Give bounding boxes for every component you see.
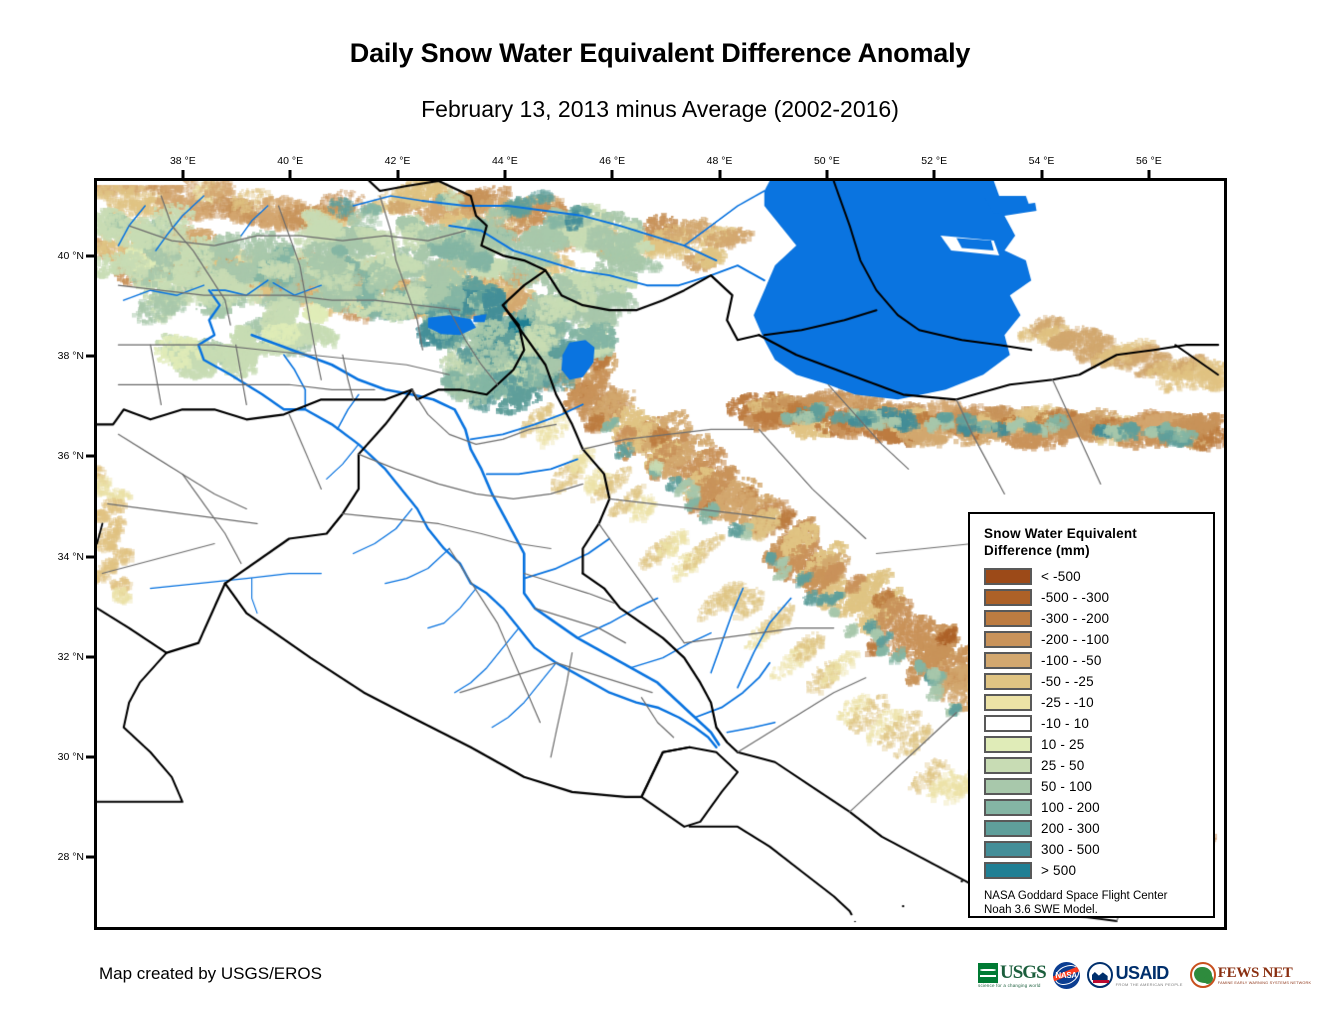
legend-row: -500 - -300 [984,587,1203,608]
legend-source-line1: NASA Goddard Space Flight Center [984,889,1203,903]
map-page: Daily Snow Water Equivalent Difference A… [0,0,1320,1020]
lon-tick-label: 46 °E [599,155,625,167]
legend-swatch [984,673,1032,690]
lon-tick-label: 38 °E [170,155,196,167]
legend-label: > 500 [1041,863,1076,878]
nasa-logo-text: NASA [1055,971,1076,980]
fewsnet-logo: FEWS NET FAMINE EARLY WARNING SYSTEMS NE… [1190,960,1311,990]
page-subtitle: February 13, 2013 minus Average (2002-20… [0,96,1320,123]
legend-label: -100 - -50 [1041,653,1102,668]
usaid-seal-icon [1087,962,1113,988]
legend-label: -200 - -100 [1041,632,1109,647]
legend-label: < -500 [1041,569,1081,584]
nasa-logo: NASA [1053,960,1080,990]
lat-tick-label: 30 °N [48,751,84,763]
legend-label: -50 - -25 [1041,674,1094,689]
lat-tick-label: 32 °N [48,651,84,663]
fewsnet-logo-text: FEWS NET [1218,966,1293,981]
fewsnet-logo-subtext: FAMINE EARLY WARNING SYSTEMS NETWORK [1218,981,1311,985]
legend-row: 10 - 25 [984,734,1203,755]
legend-swatch [984,778,1032,795]
legend-swatch [984,652,1032,669]
usaid-logo-text: USAID [1116,964,1169,982]
lon-tick-label: 48 °E [707,155,733,167]
lat-tick-label: 36 °N [48,450,84,462]
legend-row: -10 - 10 [984,713,1203,734]
legend-panel: Snow Water Equivalent Difference (mm) < … [968,512,1215,918]
legend-label: 300 - 500 [1041,842,1100,857]
legend-title: Snow Water Equivalent Difference (mm) [984,525,1203,559]
lon-tick-label: 44 °E [492,155,518,167]
legend-label: 50 - 100 [1041,779,1092,794]
usgs-logo-subtext: science for a changing world [978,983,1041,988]
legend-source-line2: Noah 3.6 SWE Model. [984,903,1203,917]
legend-swatch [984,799,1032,816]
legend-label: -25 - -10 [1041,695,1094,710]
legend-row: > 500 [984,860,1203,881]
legend-row: -25 - -10 [984,692,1203,713]
legend-row: < -500 [984,566,1203,587]
legend-row: -200 - -100 [984,629,1203,650]
legend-label: 100 - 200 [1041,800,1100,815]
legend-swatch [984,631,1032,648]
lat-tick-label: 28 °N [48,851,84,863]
logo-strip: USGS science for a changing world NASA U… [978,958,1311,992]
usaid-logo: USAID FROM THE AMERICAN PEOPLE [1087,960,1183,990]
lon-tick-label: 50 °E [814,155,840,167]
legend-swatch [984,757,1032,774]
map-credit: Map created by USGS/EROS [99,964,322,984]
nasa-meatball-icon: NASA [1053,962,1080,989]
legend-row: -300 - -200 [984,608,1203,629]
lon-tick-label: 56 °E [1136,155,1162,167]
legend-swatch [984,715,1032,732]
legend-row: 300 - 500 [984,839,1203,860]
legend-row: 50 - 100 [984,776,1203,797]
page-title: Daily Snow Water Equivalent Difference A… [0,38,1320,69]
usgs-wave-icon [978,963,998,983]
legend-row: 200 - 300 [984,818,1203,839]
legend-source: NASA Goddard Space Flight Center Noah 3.… [984,889,1203,917]
lon-tick-label: 52 °E [921,155,947,167]
legend-row: -50 - -25 [984,671,1203,692]
legend-title-line1: Snow Water Equivalent [984,525,1203,542]
usgs-logo-text: USGS [1000,963,1046,982]
usaid-logo-subtext: FROM THE AMERICAN PEOPLE [1116,982,1183,987]
legend-label: -500 - -300 [1041,590,1109,605]
legend-row: 25 - 50 [984,755,1203,776]
legend-label: -10 - 10 [1041,716,1089,731]
usgs-logo: USGS science for a changing world [978,960,1046,990]
legend-row: 100 - 200 [984,797,1203,818]
legend-swatch [984,862,1032,879]
lon-tick-label: 54 °E [1029,155,1055,167]
legend-label: 25 - 50 [1041,758,1084,773]
legend-label: 200 - 300 [1041,821,1100,836]
legend-swatch [984,568,1032,585]
legend-swatch [984,736,1032,753]
fews-globe-icon [1190,962,1216,988]
legend-label: 10 - 25 [1041,737,1084,752]
legend-swatch [984,589,1032,606]
lon-tick-label: 40 °E [277,155,303,167]
lon-tick-label: 42 °E [385,155,411,167]
legend-title-line2: Difference (mm) [984,542,1203,559]
legend-swatch [984,820,1032,837]
lat-tick-label: 40 °N [48,250,84,262]
lat-tick-label: 34 °N [48,551,84,563]
legend-class-list: < -500-500 - -300-300 - -200-200 - -100-… [984,566,1203,881]
lat-tick-label: 38 °N [48,350,84,362]
legend-swatch [984,694,1032,711]
legend-label: -300 - -200 [1041,611,1109,626]
legend-swatch [984,610,1032,627]
legend-swatch [984,841,1032,858]
legend-row: -100 - -50 [984,650,1203,671]
